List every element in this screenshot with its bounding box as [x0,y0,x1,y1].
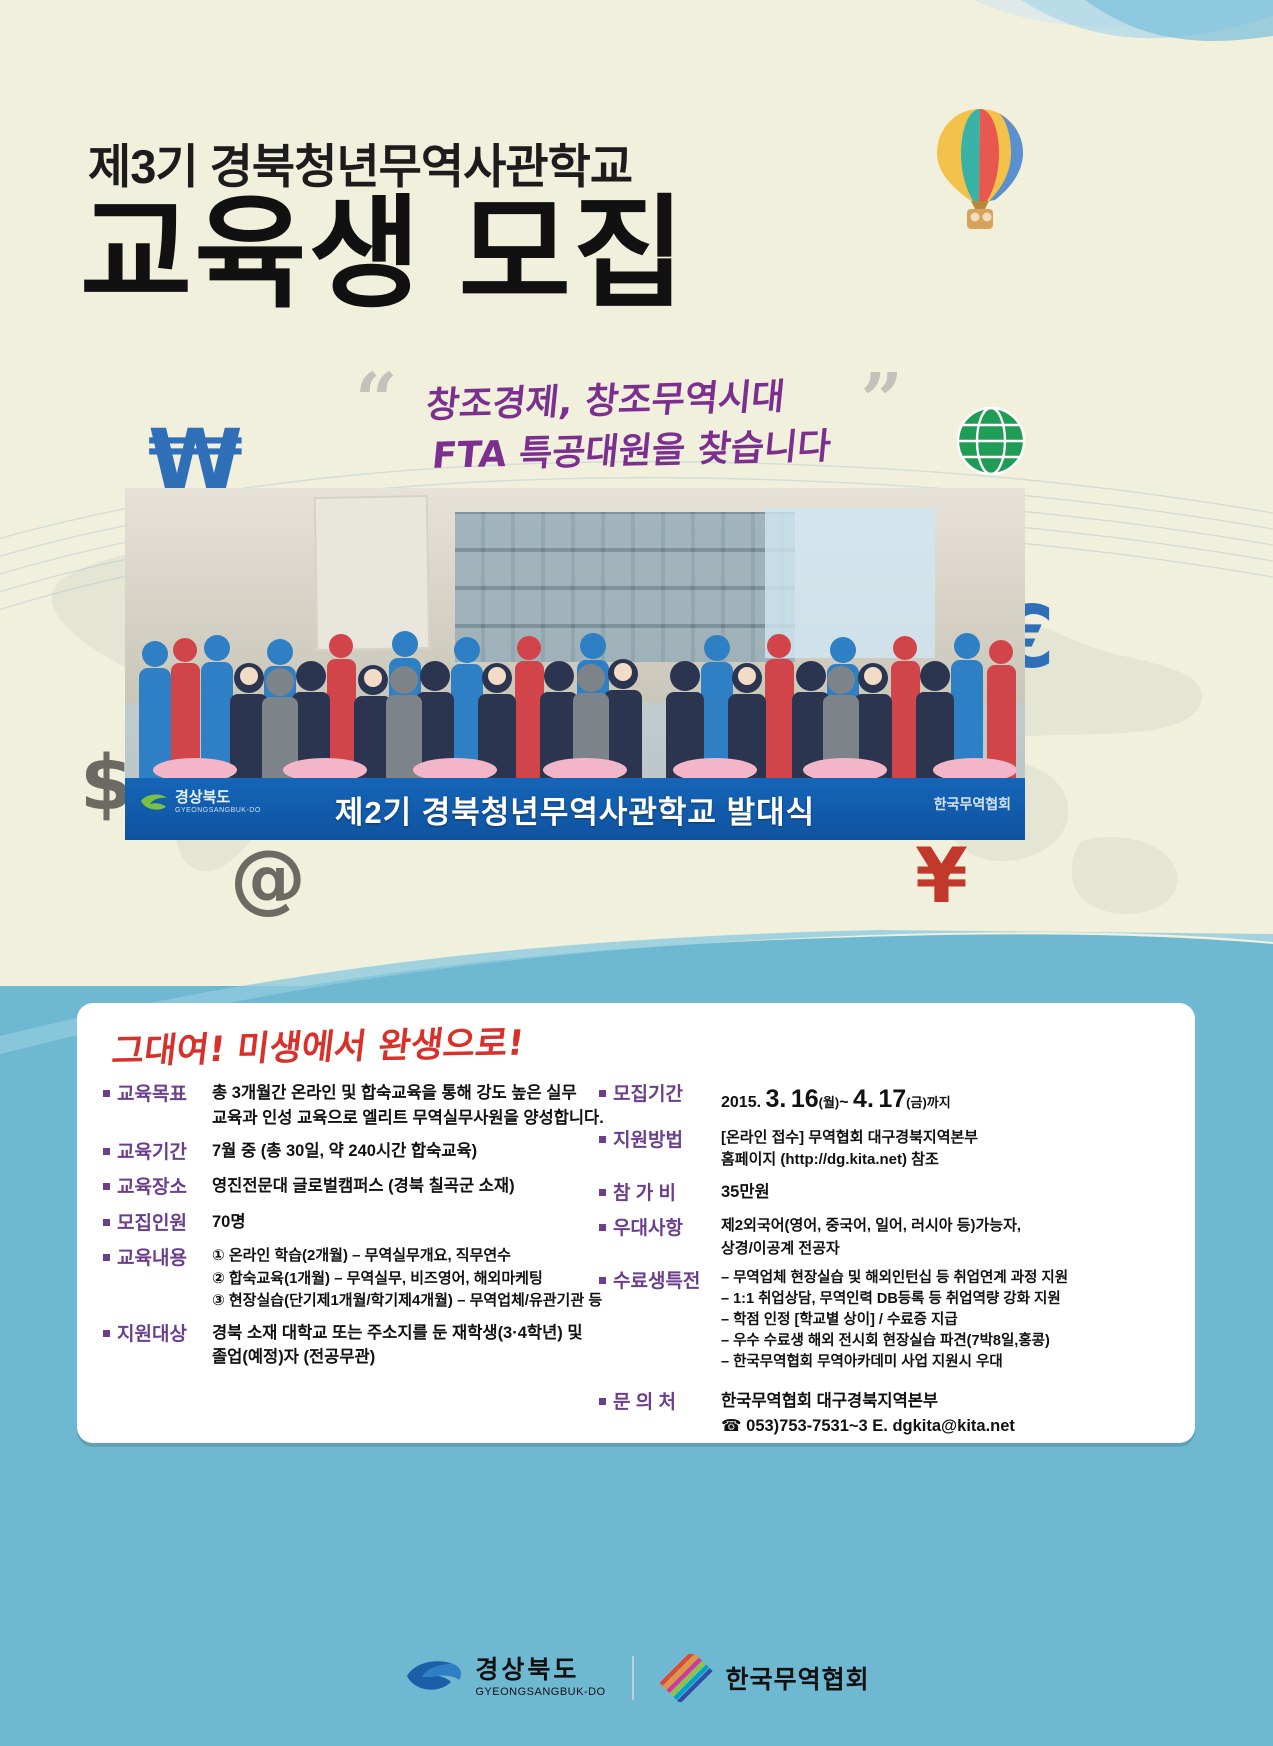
period-tilde: ~ [839,1094,848,1111]
poster-root: 제3기 경북청년무역사관학교 교육생 모집 “ ” 창조경제, 창조무역시대 F… [0,0,1273,1746]
photo-banner-logo-left-name: 경상북도 [175,790,261,807]
info-value: 제2외국어(영어, 중국어, 일어, 러시아 등)가능자, 상경/이공계 전공자 [721,1215,1021,1260]
info-value: [온라인 접수] 무역협회 대구경북지역본부 홈페이지 (http://dg.k… [721,1127,978,1172]
bullet-icon [103,1330,110,1337]
info-row-education-period: 교육기간 7월 중 (총 30일, 약 240시간 합숙교육) [103,1139,623,1167]
info-row-application-period: 모집기간 2015. 3. 16(월)~ 4. 17(금)까지 [599,1081,1179,1119]
photo-banner-text: 제2기 경북청년무역사관학교 발대식 [335,787,815,832]
contact-organization: 한국무역협회 대구경북지역본부 [721,1389,1015,1414]
yen-symbol-icon: ¥ [915,838,968,914]
info-label: 지원방법 [613,1127,721,1155]
info-value-line: ② 합숙교육(1개월) – 무역실무, 비즈영어, 해외마케팅 [212,1268,602,1291]
period-end-dow: (금) [906,1095,927,1110]
info-value-line: 경북 소재 대학교 또는 주소지를 둔 재학생(3·4학년) 및 [212,1321,583,1346]
info-value: 경북 소재 대학교 또는 주소지를 둔 재학생(3·4학년) 및 졸업(예정)자… [212,1321,583,1371]
footer-logos: 경상북도 GYEONGSANGBUK-DO 한국무역협회 [0,1648,1273,1708]
period-start-month: 3. [766,1085,787,1113]
info-row-curriculum: 교육내용 ① 온라인 학습(2개월) – 무역실무개요, 직무연수 ② 합숙교육… [103,1245,623,1313]
bullet-icon [599,1224,606,1231]
photo-flower-row [125,748,1025,782]
info-label: 지원대상 [117,1321,212,1349]
info-label: 교육기간 [117,1139,212,1167]
info-value-line: 졸업(예정)자 (전공무관) [212,1345,583,1370]
period-suffix: 까지 [927,1095,951,1110]
kita-logo-icon [660,1654,714,1702]
period-end-month: 4. [853,1085,874,1113]
info-card-title: 그대여! 미생에서 완생으로! [109,1015,527,1075]
info-value-line: ③ 현장실습(단기제1개월/학기제4개월) – 무역업체/유관기관 등 [212,1290,602,1313]
photo-banner-logo-right: 한국무역협회 [934,794,1011,814]
info-column-left: 교육목표 총 3개월간 온라인 및 합숙교육을 통해 강도 높은 실무 교육과 … [103,1081,623,1378]
globe-icon [955,405,1027,477]
info-value-line: – 우수 수료생 해외 전시회 현장실습 파견(7박8일,홍콩) [721,1331,1068,1352]
application-url[interactable]: 홈페이지 (http://dg.kita.net) 참조 [721,1149,978,1172]
info-row-eligibility: 지원대상 경북 소재 대학교 또는 주소지를 둔 재학생(3·4학년) 및 졸업… [103,1321,623,1371]
bullet-icon [103,1254,110,1261]
info-value-line: 제2외국어(영어, 중국어, 일어, 러시아 등)가능자, [721,1215,1021,1238]
info-row-education-goal: 교육목표 총 3개월간 온라인 및 합숙교육을 통해 강도 높은 실무 교육과 … [103,1081,623,1131]
info-label: 모집기간 [613,1081,721,1109]
info-label: 참 가 비 [613,1180,721,1208]
info-value-line: 상경/이공계 전공자 [721,1238,1021,1261]
info-value-line: – 무역업체 현장실습 및 해외인턴십 등 취업연계 과정 지원 [721,1268,1068,1289]
info-value-line: ① 온라인 학습(2개월) – 무역실무개요, 직무연수 [212,1245,602,1268]
event-photo: 경상북도 GYEONGSANGBUK-DO 제2기 경북청년무역사관학교 발대식… [125,488,1025,840]
info-value-line: – 학점 인정 [학교별 상이] / 수료증 지급 [721,1310,1068,1331]
info-value: 2015. 3. 16(월)~ 4. 17(금)까지 [721,1081,951,1119]
period-year: 2015. [721,1094,761,1111]
bullet-icon [103,1148,110,1155]
hot-air-balloon-icon [925,105,1035,255]
info-card: 그대여! 미생에서 완생으로! 교육목표 총 3개월간 온라인 및 합숙교육을 … [77,1003,1195,1443]
info-value: 7월 중 (총 30일, 약 240시간 합숙교육) [212,1139,477,1164]
photo-banner-logo-left-sub: GYEONGSANGBUK-DO [175,807,261,814]
bullet-icon [103,1219,110,1226]
info-label: 교육장소 [117,1174,212,1202]
info-row-education-venue: 교육장소 영진전문대 글로벌캠퍼스 (경북 칠곡군 소재) [103,1174,623,1202]
info-column-right: 모집기간 2015. 3. 16(월)~ 4. 17(금)까지 지원방법 [온라… [599,1081,1179,1447]
info-row-graduate-benefits: 수료생특전 – 무역업체 현장실습 및 해외인턴십 등 취업연계 과정 지원 –… [599,1268,1179,1373]
info-label: 우대사항 [613,1215,721,1243]
gyeongsangbuk-do-logo-icon [139,791,169,813]
info-value: 35만원 [721,1180,770,1205]
info-value-line: – 1:1 취업상담, 무역인력 DB등록 등 취업역량 강화 지원 [721,1289,1068,1310]
corner-swoosh-decoration [853,0,1273,300]
bullet-icon [599,1398,606,1405]
bullet-icon [599,1136,606,1143]
info-value: ① 온라인 학습(2개월) – 무역실무개요, 직무연수 ② 합숙교육(1개월)… [212,1245,602,1313]
bullet-icon [599,1277,606,1284]
info-value-line: [온라인 접수] 무역협회 대구경북지역본부 [721,1127,978,1150]
info-value: 영진전문대 글로벌캠퍼스 (경북 칠곡군 소재) [212,1174,515,1199]
bullet-icon [103,1090,110,1097]
gyeongsangbuk-do-logo: 경상북도 GYEONGSANGBUK-DO [403,1656,605,1700]
bullet-icon [599,1189,606,1196]
info-label: 수료생특전 [613,1268,721,1296]
contact-phone-email[interactable]: ☎ 053)753-7531~3 E. dgkita@kita.net [721,1414,1015,1439]
info-value-line: – 한국무역협회 무역아카데미 사업 지원시 우대 [721,1352,1068,1373]
info-value-line: 총 3개월간 온라인 및 합숙교육을 통해 강도 높은 실무 [212,1081,604,1106]
period-start-dow: (월) [819,1095,840,1110]
info-row-contact: 문 의 처 한국무역협회 대구경북지역본부 ☎ 053)753-7531~3 E… [599,1389,1179,1439]
period-start-day: 16 [791,1085,819,1113]
info-row-fee: 참 가 비 35만원 [599,1180,1179,1208]
info-value: – 무역업체 현장실습 및 해외인턴십 등 취업연계 과정 지원 – 1:1 취… [721,1268,1068,1373]
info-row-how-to-apply: 지원방법 [온라인 접수] 무역협회 대구경북지역본부 홈페이지 (http:/… [599,1127,1179,1172]
info-value-line: 교육과 인성 교육으로 엘리트 무역실무사원을 양성합니다. [212,1106,604,1131]
info-label: 문 의 처 [613,1389,721,1417]
period-end-day: 17 [878,1085,906,1113]
info-row-preferences: 우대사항 제2외국어(영어, 중국어, 일어, 러시아 등)가능자, 상경/이공… [599,1215,1179,1260]
kita-name: 한국무역협회 [726,1660,870,1696]
info-label: 교육목표 [117,1081,212,1109]
info-value: 70명 [212,1210,246,1235]
tagline-line-2: FTA 특공대원을 찾습니다 [430,417,834,479]
gyeongsangbuk-do-name: 경상북도 [475,1658,605,1683]
tagline-block: “ ” 창조경제, 창조무역시대 FTA 특공대원을 찾습니다 [355,360,895,485]
gyeongsangbuk-do-subtitle: GYEONGSANGBUK-DO [475,1686,605,1698]
at-symbol-icon: @ [230,840,306,916]
info-value: 총 3개월간 온라인 및 합숙교육을 통해 강도 높은 실무 교육과 인성 교육… [212,1081,604,1131]
bullet-icon [599,1090,606,1097]
quote-open-icon: “ [355,364,398,438]
photo-banner-logo-left: 경상북도 GYEONGSANGBUK-DO [139,790,261,814]
bullet-icon [103,1183,110,1190]
info-value: 한국무역협회 대구경북지역본부 ☎ 053)753-7531~3 E. dgki… [721,1389,1015,1439]
info-row-recruit-count: 모집인원 70명 [103,1210,623,1238]
footer-divider [632,1656,634,1700]
poster-headline: 교육생 모집 [80,193,687,315]
quote-close-icon: ” [860,364,903,438]
gyeongsangbuk-do-logo-icon [403,1656,465,1700]
kita-logo: 한국무역협회 [660,1654,870,1702]
info-label: 교육내용 [117,1245,212,1273]
photo-banner: 경상북도 GYEONGSANGBUK-DO 제2기 경북청년무역사관학교 발대식… [125,778,1025,840]
info-label: 모집인원 [117,1210,212,1238]
